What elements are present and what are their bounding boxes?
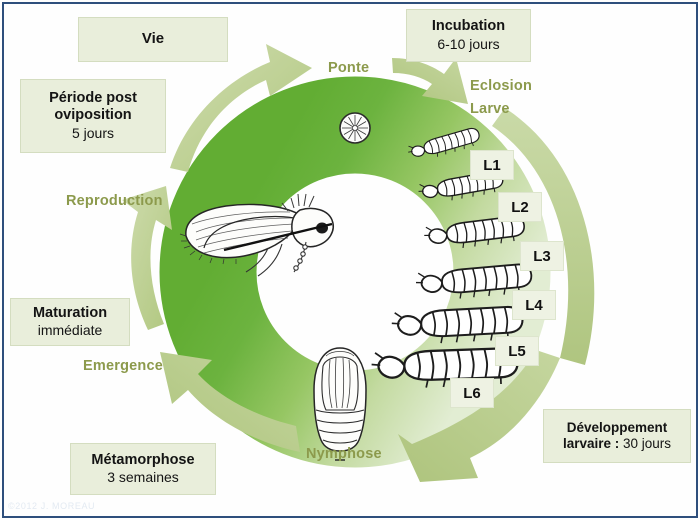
box-vie-line1: Vie — [142, 30, 164, 48]
caption-ponte: Ponte — [328, 60, 369, 76]
stage-chip-l4[interactable]: L4 — [512, 290, 556, 320]
box-post-line2: oviposition — [54, 107, 131, 125]
box-incubation-line1: Incubation — [432, 18, 505, 36]
box-incubation-line2: 6-10 jours — [437, 36, 499, 53]
box-incubation[interactable]: Incubation 6-10 jours — [406, 9, 531, 62]
box-post-line1: Période post — [49, 90, 137, 108]
box-metamorphose-line1: Métamorphose — [91, 452, 194, 470]
watermark: ©2012 J. MOREAU — [8, 501, 95, 511]
stage-chip-l6[interactable]: L6 — [450, 378, 494, 408]
box-post-line3: 5 jours — [72, 125, 114, 142]
stage-chip-l3[interactable]: L3 — [520, 241, 564, 271]
box-periode-post-oviposition[interactable]: Période post oviposition 5 jours — [20, 79, 166, 153]
egg-icon — [340, 113, 370, 143]
caption-eclosion: Eclosion — [470, 78, 532, 94]
box-maturation-line2: immédiate — [38, 322, 103, 339]
caption-emergence: Emergence — [83, 358, 163, 374]
stage-chip-l2[interactable]: L2 — [498, 192, 542, 222]
stage-chip-l1[interactable]: L1 — [470, 150, 514, 180]
box-maturation[interactable]: Maturation immédiate — [10, 298, 130, 346]
box-dev-line2: larvaire : 30 jours — [563, 436, 671, 452]
box-maturation-line1: Maturation — [33, 305, 107, 323]
caption-larve: Larve — [470, 101, 510, 117]
box-dev-line2-value: 30 jours — [619, 436, 671, 451]
caption-reproduction: Reproduction — [66, 193, 163, 209]
box-dev-line2-bold: larvaire : — [563, 436, 619, 451]
box-developpement-larvaire[interactable]: Développement larvaire : 30 jours — [543, 409, 691, 463]
caption-nymphose: Nymphose — [306, 446, 382, 462]
box-dev-line1: Développement — [567, 420, 668, 436]
life-cycle-diagram: Vie Période post oviposition 5 jours Inc… — [0, 0, 700, 520]
box-metamorphose[interactable]: Métamorphose 3 semaines — [70, 443, 216, 495]
stage-chip-l5[interactable]: L5 — [495, 336, 539, 366]
box-metamorphose-line2: 3 semaines — [107, 469, 179, 486]
box-vie[interactable]: Vie — [78, 17, 228, 62]
